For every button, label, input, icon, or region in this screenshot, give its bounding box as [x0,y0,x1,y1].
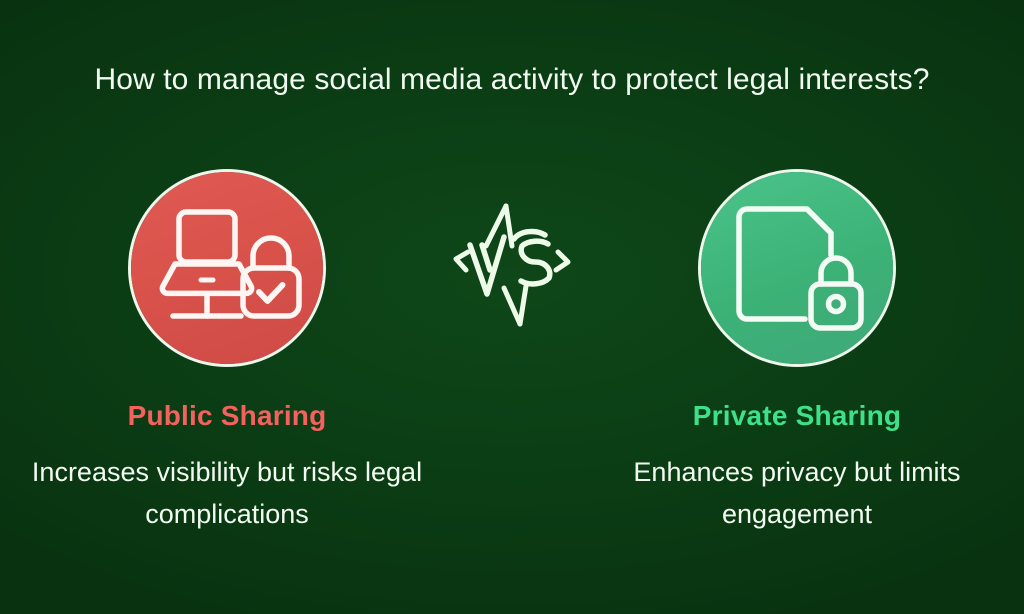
public-sharing-description: Increases visibility but risks legal com… [0,452,462,536]
comparison-option-private-sharing: Private Sharing Enhances privacy but lim… [562,160,1024,536]
public-sharing-heading: Public Sharing [0,400,462,432]
laptop-icon [162,212,251,316]
document-icon [739,209,831,319]
public-sharing-badge-circle [131,172,323,364]
spark-icon [456,206,568,324]
private-sharing-heading: Private Sharing [562,400,1024,432]
page-title: How to manage social media activity to p… [0,62,1024,98]
private-sharing-badge [701,172,893,364]
comparison-option-public-sharing: Public Sharing Increases visibility but … [0,160,462,536]
lock-check-icon [243,238,299,316]
private-sharing-description: Enhances privacy but limits engagement [562,452,1024,536]
private-sharing-badge-circle [701,172,893,364]
lock-keyhole-icon [811,258,861,328]
public-sharing-badge [131,172,323,364]
infographic-canvas: How to manage social media activity to p… [0,0,1024,614]
versus-separator [442,190,582,340]
